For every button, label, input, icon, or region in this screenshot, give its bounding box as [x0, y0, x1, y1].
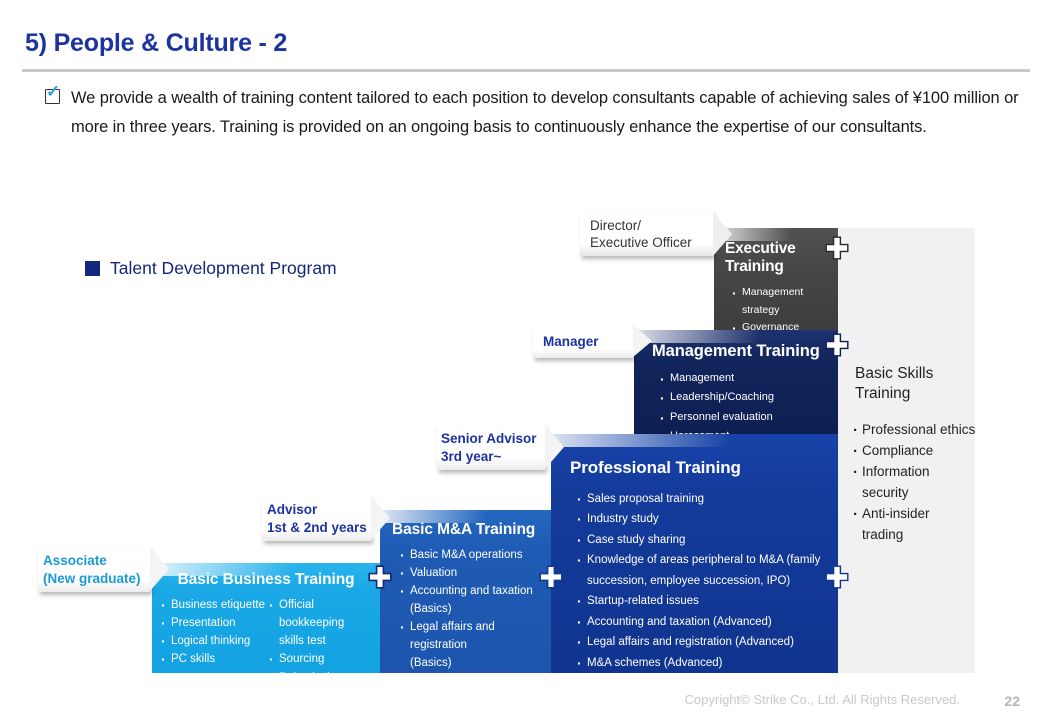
- role-label-text: Associate (New graduate): [38, 552, 141, 587]
- basic-business-training-title: Basic Business Training: [152, 563, 380, 589]
- role-label-text: Advisor 1st & 2nd years: [262, 501, 367, 536]
- list-item: succession, employee succession, IPO): [577, 571, 838, 591]
- role-label-line2: Executive Officer: [590, 234, 692, 251]
- basic-skills-title-line2: Training: [855, 384, 973, 404]
- executive-title-line1: Executive: [725, 240, 838, 258]
- basic-business-list-column-2: Official bookkeeping skills test Sourcin…: [269, 596, 379, 723]
- plus-icon: [538, 565, 564, 591]
- list-item: Management: [660, 369, 838, 388]
- role-label-line1: Director/: [590, 217, 692, 234]
- list-item: Anti-insider: [853, 504, 978, 525]
- basic-ma-training-list: Basic M&A operations Valuation Accountin…: [380, 539, 551, 708]
- list-item: Management strategy: [732, 284, 838, 319]
- executive-training-title: Executive Training: [714, 228, 838, 276]
- list-item: Professional ethics: [853, 420, 978, 441]
- list-item: skills test: [269, 632, 379, 650]
- list-item: Accounting and taxation: [400, 583, 551, 601]
- basic-business-list-column-1: Business etiquette Presentation Logical …: [161, 596, 269, 723]
- legend-swatch-icon: [85, 261, 100, 276]
- list-item: security: [853, 483, 978, 504]
- role-label-line2: 3rd year~: [441, 448, 537, 465]
- role-label-text: Senior Advisor 3rd year~: [437, 430, 537, 465]
- list-item: M&A schemes (Basics): [400, 673, 551, 691]
- list-item: Personnel evaluation: [660, 408, 838, 427]
- executive-title-line2: Training: [725, 258, 838, 276]
- footer-copyright: Copyright© Strike Co., Ltd. All Rights R…: [685, 692, 960, 707]
- role-label-line1: Advisor: [267, 501, 367, 518]
- footer-page-number: 22: [1004, 693, 1020, 709]
- list-item: M&A schemes (Advanced): [577, 653, 838, 673]
- management-training-block: Management Training Management Leadershi…: [634, 330, 838, 434]
- role-label-manager: Manager: [533, 325, 633, 358]
- executive-training-block: Executive Training Management strategy G…: [714, 228, 838, 330]
- list-item: Compliance: [853, 441, 978, 462]
- professional-training-title: Professional Training: [551, 434, 838, 478]
- basic-ma-training-block: Basic M&A Training Basic M&A operations …: [380, 510, 551, 673]
- role-label-line1: Senior Advisor: [441, 430, 537, 447]
- basic-skills-title-line1: Basic Skills: [855, 364, 973, 384]
- list-item: Leadership/Coaching: [660, 388, 838, 407]
- plus-icon: [824, 565, 850, 591]
- role-label-senior-advisor: Senior Advisor 3rd year~: [437, 425, 545, 470]
- list-item: Sourcing: [269, 650, 379, 668]
- basic-ma-training-title: Basic M&A Training: [380, 510, 551, 539]
- basic-skills-training-list: Professional ethics Compliance Informati…: [853, 420, 978, 546]
- list-item: Official bookkeeping: [269, 596, 379, 632]
- role-label-director: Director/ Executive Officer: [580, 212, 713, 256]
- list-item: Startup-related issues: [577, 591, 838, 611]
- role-label-associate: Associate (New graduate): [38, 547, 150, 592]
- legend-label: Talent Development Program: [110, 258, 337, 279]
- list-item: Role playing: [269, 669, 379, 687]
- list-item: (Basics): [400, 655, 551, 673]
- list-item: Knowledge of areas peripheral to M&A (fa…: [577, 550, 838, 570]
- role-label-line1: Associate: [43, 552, 141, 569]
- basic-business-training-block: Basic Business Training Business etiquet…: [152, 563, 380, 673]
- list-item: Legal affairs and registration (Advanced…: [577, 632, 838, 652]
- diagram-legend: Talent Development Program: [85, 258, 337, 279]
- basic-skills-training-title: Basic Skills Training: [855, 364, 973, 405]
- list-item: Service quality: [577, 673, 838, 693]
- talent-development-diagram: Talent Development Program Basic Skills …: [0, 0, 1050, 727]
- list-item: Logical thinking: [161, 632, 269, 650]
- list-item: Information: [853, 462, 978, 483]
- role-label-line2: 1st & 2nd years: [267, 519, 367, 536]
- list-item: Business etiquette: [161, 596, 269, 614]
- list-item: Presentation: [161, 614, 269, 632]
- professional-training-block: Professional Training Sales proposal tra…: [551, 434, 838, 673]
- professional-training-list: Sales proposal training Industry study C…: [551, 478, 838, 694]
- list-item: Legal affairs and registration: [400, 619, 551, 655]
- role-label-line2: (New graduate): [43, 570, 141, 587]
- list-item: trading: [853, 525, 978, 546]
- list-item: Valuation: [400, 565, 551, 583]
- list-item: Basic M&A operations: [400, 547, 551, 565]
- list-item: Sales proposal training: [577, 489, 838, 509]
- list-item: Contracts with clients: [400, 691, 551, 709]
- list-item: (Basics): [400, 601, 551, 619]
- plus-icon: [367, 565, 393, 591]
- role-label-text: Manager: [533, 333, 599, 350]
- role-label-text: Director/ Executive Officer: [580, 217, 692, 252]
- list-item: OJT/Mentor system: [269, 687, 379, 723]
- list-item: Accounting and taxation (Advanced): [577, 612, 838, 632]
- list-item: Industry study: [577, 509, 838, 529]
- basic-business-training-columns: Business etiquette Presentation Logical …: [152, 589, 380, 723]
- management-training-title: Management Training: [634, 330, 838, 361]
- plus-icon: [824, 236, 850, 262]
- list-item: Case study sharing: [577, 530, 838, 550]
- list-item: PC skills: [161, 650, 269, 668]
- role-label-advisor: Advisor 1st & 2nd years: [262, 496, 371, 541]
- plus-icon: [824, 333, 850, 359]
